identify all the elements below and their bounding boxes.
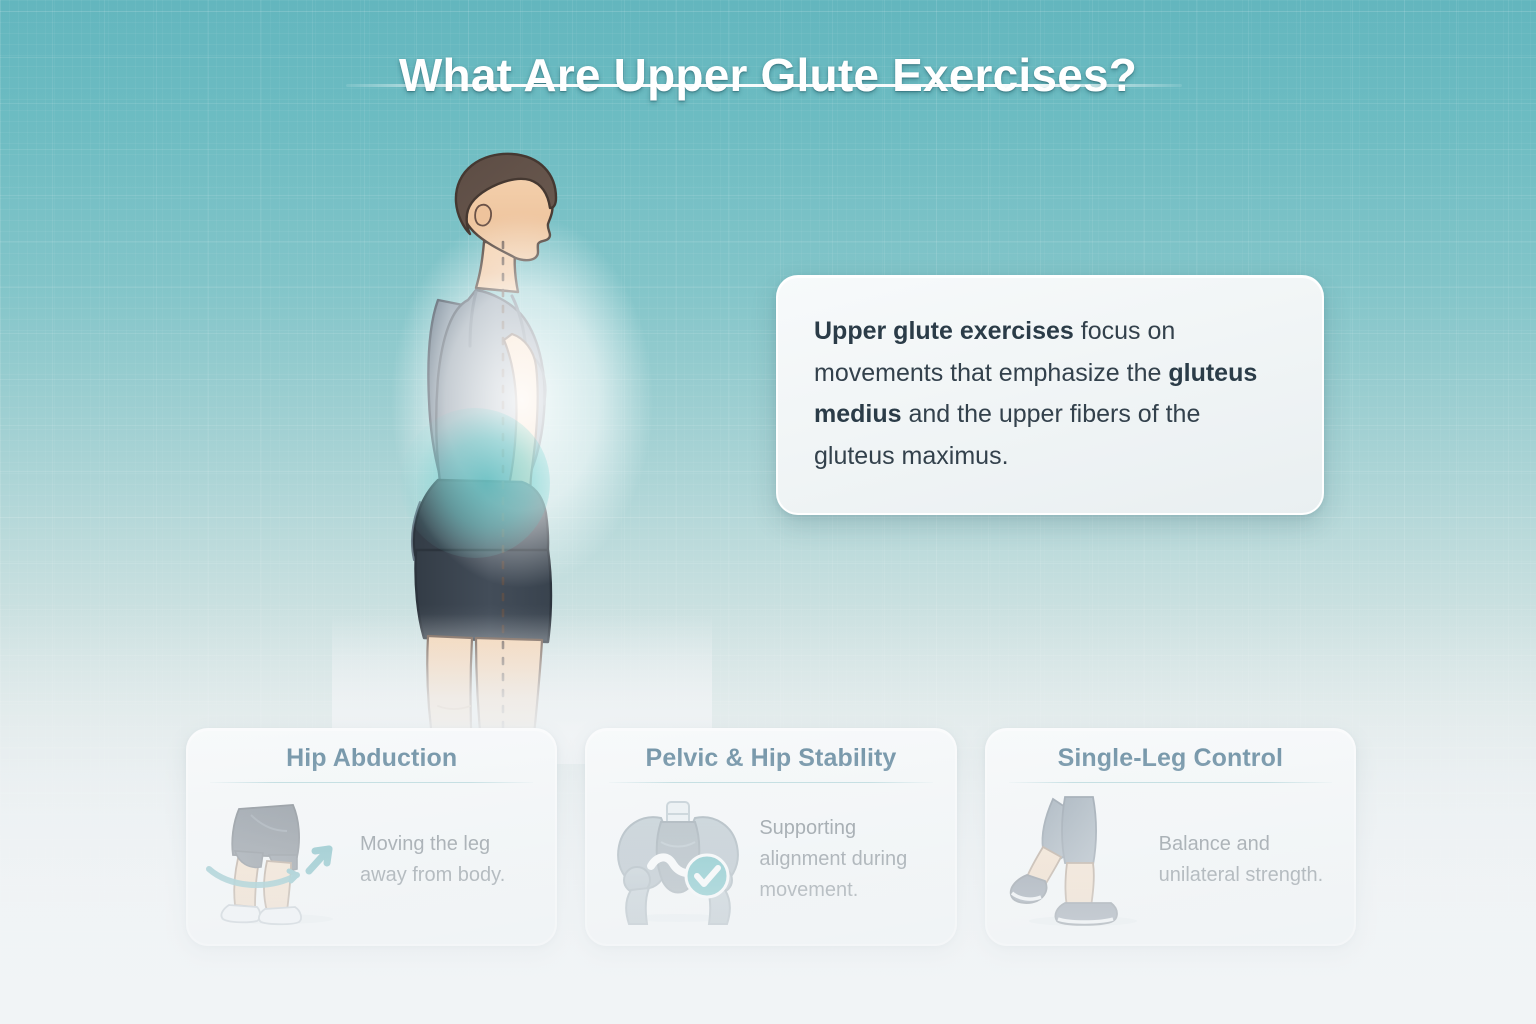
card-body: Supporting alignment during movement. xyxy=(603,783,938,932)
callout-text: Upper glute exercises focus on movements… xyxy=(814,311,1286,477)
feature-cards-row: Hip Abduction xyxy=(186,728,1356,946)
card-desc-pelvic-hip-stability: Supporting alignment during movement. xyxy=(759,813,938,906)
title-underline-rule xyxy=(346,84,1182,87)
page-title: What Are Upper Glute Exercises? xyxy=(0,48,1536,102)
card-hip-abduction[interactable]: Hip Abduction xyxy=(186,728,557,946)
figure-illustration xyxy=(372,150,672,760)
definition-callout: Upper glute exercises focus on movements… xyxy=(776,275,1324,515)
card-body: Moving the leg away from body. xyxy=(204,783,539,932)
card-single-leg-control[interactable]: Single-Leg Control xyxy=(985,728,1356,946)
pelvis-check-icon xyxy=(603,792,753,928)
card-title-hip-abduction: Hip Abduction xyxy=(204,744,539,773)
legs-abduction-icon xyxy=(204,791,354,929)
title-block: What Are Upper Glute Exercises? xyxy=(0,48,1536,102)
card-desc-hip-abduction: Moving the leg away from body. xyxy=(360,829,539,891)
card-title-pelvic-hip-stability: Pelvic & Hip Stability xyxy=(603,744,938,773)
card-body: Balance and unilateral strength. xyxy=(1003,783,1338,932)
standing-woman-svg xyxy=(372,150,672,760)
infographic-canvas: What Are Upper Glute Exercises? xyxy=(0,0,1536,1024)
callout-bold-1: Upper glute exercises xyxy=(814,317,1074,345)
card-pelvic-hip-stability[interactable]: Pelvic & Hip Stability xyxy=(585,728,956,946)
single-leg-step-icon xyxy=(1003,791,1153,929)
card-title-single-leg-control: Single-Leg Control xyxy=(1003,744,1338,773)
card-desc-single-leg-control: Balance and unilateral strength. xyxy=(1159,829,1338,891)
